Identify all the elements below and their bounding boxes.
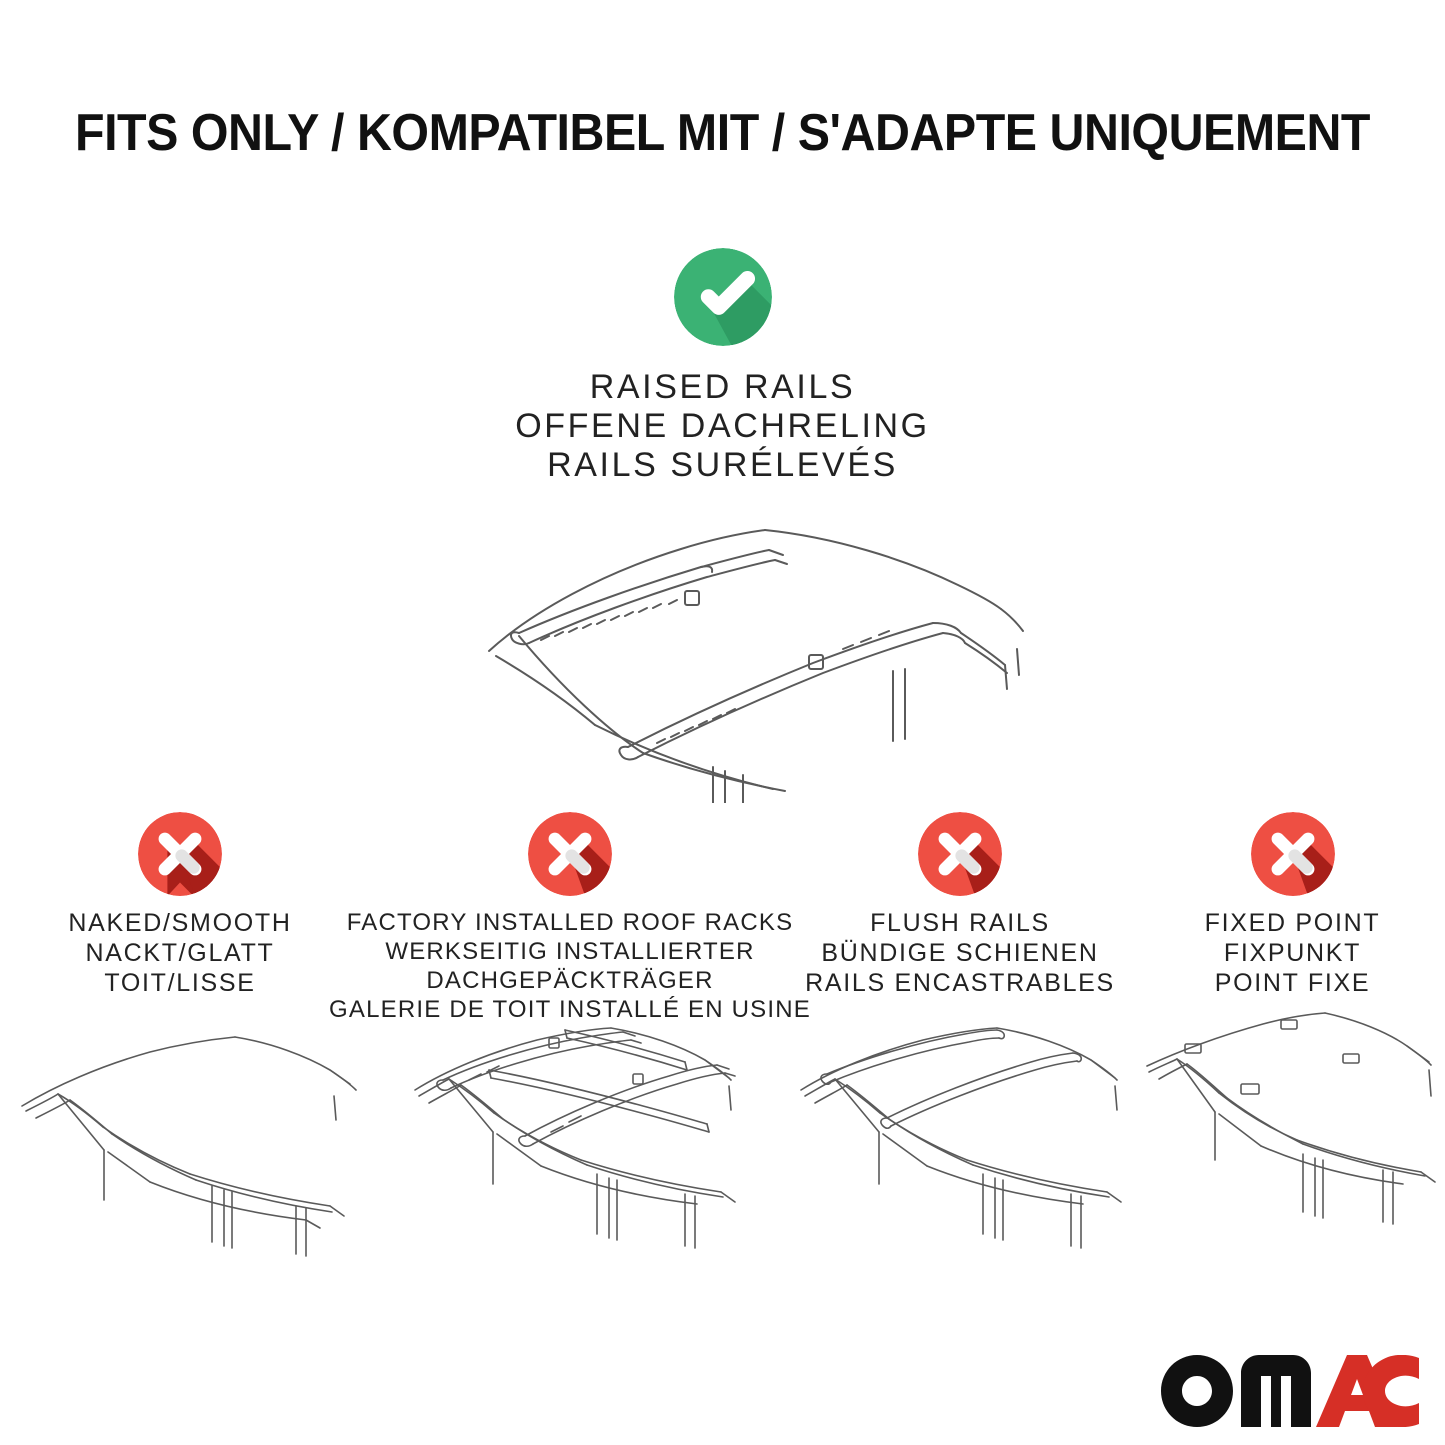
incompatible-label-2-line-3: DACHGEPÄCKTRÄGER xyxy=(329,966,811,995)
page-title: FITS ONLY / KOMPATIBEL MIT / S'ADAPTE UN… xyxy=(51,103,1395,163)
incompatible-item-flush-rails: FLUSH RAILS BÜNDIGE SCHIENEN RAILS ENCAS… xyxy=(780,812,1140,1024)
car-roof-raised-rails-illustration xyxy=(0,503,1445,803)
cross-icon-slot-3 xyxy=(918,812,1002,908)
car-roof-factory-rack-illustration xyxy=(385,1008,755,1273)
incompatible-label-3: FLUSH RAILS BÜNDIGE SCHIENEN RAILS ENCAS… xyxy=(805,908,1115,998)
incompatible-label-1-line-3: TOIT/LISSE xyxy=(68,968,291,998)
check-circle-icon xyxy=(674,248,772,346)
compatible-label-line-2: OFFENE DACHRELING xyxy=(0,407,1445,446)
incompatible-label-3-line-2: BÜNDIGE SCHIENEN xyxy=(805,938,1115,968)
cross-circle-icon xyxy=(138,812,222,896)
incompatible-label-1-line-2: NACKT/GLATT xyxy=(68,938,291,968)
compatible-icon-wrap xyxy=(0,248,1445,346)
compatible-label: RAISED RAILS OFFENE DACHRELING RAILS SUR… xyxy=(0,368,1445,485)
omac-logo-letter-o xyxy=(1161,1355,1233,1427)
incompatible-label-3-line-3: RAILS ENCASTRABLES xyxy=(805,968,1115,998)
cross-icon-slot-2 xyxy=(528,812,612,908)
omac-logo-letter-m xyxy=(1241,1355,1311,1427)
omac-logo: OMAC xyxy=(1161,1355,1419,1427)
car-roof-fixed-point-illustration xyxy=(1143,1008,1443,1263)
car-roof-naked-illustration xyxy=(0,1010,360,1265)
incompatible-label-1-line-1: NAKED/SMOOTH xyxy=(68,908,291,938)
cross-icon-slot-4 xyxy=(1251,812,1335,908)
incompatible-label-4: FIXED POINT FIXPUNKT POINT FIXE xyxy=(1205,908,1381,998)
incompatible-item-fixed-point: FIXED POINT FIXPUNKT POINT FIXE xyxy=(1140,812,1445,1024)
cross-circle-icon xyxy=(528,812,612,896)
incompatible-label-4-line-2: FIXPUNKT xyxy=(1205,938,1381,968)
compatible-section: RAISED RAILS OFFENE DACHRELING RAILS SUR… xyxy=(0,248,1445,485)
incompatible-label-2: FACTORY INSTALLED ROOF RACKS WERKSEITIG … xyxy=(329,908,811,1024)
cross-circle-icon xyxy=(1251,812,1335,896)
cross-icon-slot-1 xyxy=(138,812,222,908)
compatible-label-line-1: RAISED RAILS xyxy=(0,368,1445,407)
incompatible-label-2-line-1: FACTORY INSTALLED ROOF RACKS xyxy=(329,908,811,937)
incompatible-label-2-line-2: WERKSEITIG INSTALLIERTER xyxy=(329,937,811,966)
compatible-label-line-3: RAILS SURÉLEVÉS xyxy=(0,446,1445,485)
incompatible-section: NAKED/SMOOTH NACKT/GLATT TOIT/LISSE xyxy=(0,812,1445,1024)
car-roof-flush-rails-illustration xyxy=(775,1008,1145,1263)
incompatible-label-1: NAKED/SMOOTH NACKT/GLATT TOIT/LISSE xyxy=(68,908,291,998)
cross-circle-icon xyxy=(918,812,1002,896)
incompatible-label-3-line-1: FLUSH RAILS xyxy=(805,908,1115,938)
incompatible-item-naked-smooth: NAKED/SMOOTH NACKT/GLATT TOIT/LISSE xyxy=(0,812,360,1024)
incompatible-label-4-line-1: FIXED POINT xyxy=(1205,908,1381,938)
incompatible-item-factory-rack: FACTORY INSTALLED ROOF RACKS WERKSEITIG … xyxy=(360,812,780,1024)
incompatible-label-4-line-3: POINT FIXE xyxy=(1205,968,1381,998)
